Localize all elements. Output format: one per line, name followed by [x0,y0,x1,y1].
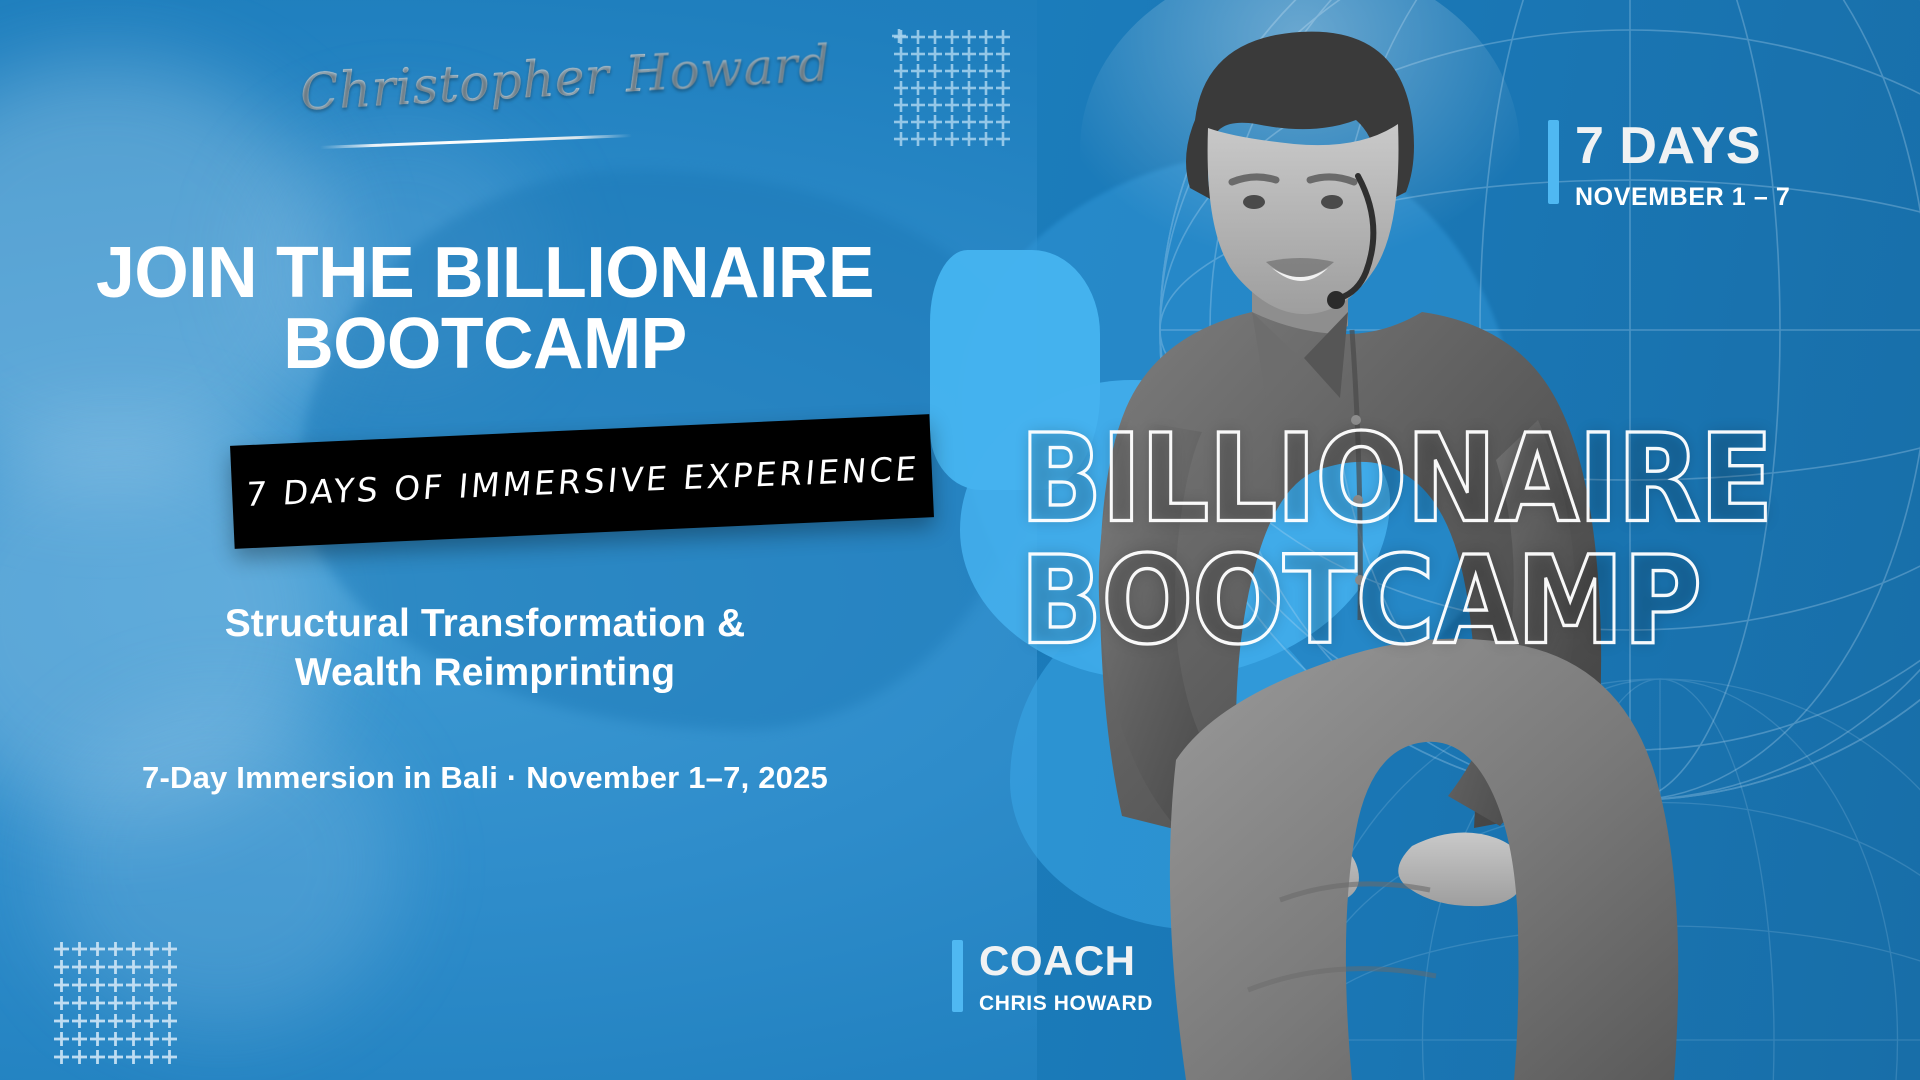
headline-line1: JOIN THE BILLIONAIRE [82,238,887,309]
logo-signature-text: Christopher Howard [299,44,652,121]
event-dateline: 7-Day Immersion in Bali · November 1–7, … [70,760,900,796]
subheadline-line2: Wealth Reimprinting [70,649,900,698]
logo-underline [320,134,632,149]
headline-line2: BOOTCAMP [82,309,887,380]
page-title: JOIN THE BILLIONAIRE BOOTCAMP [82,238,887,379]
coach-badge-subtitle: CHRIS HOWARD [979,993,1153,1014]
coach-badge-title: COACH [979,940,1153,982]
ribbon-label: 7 DAYS OF IMMERSIVE EXPERIENCE [244,449,921,514]
days-badge: 7 DAYS NOVEMBER 1 – 7 [1548,120,1790,204]
promo-banner: BILLIONAIRE BOOTCAMP Christopher Howard … [0,0,1920,1080]
subheadline: Structural Transformation & Wealth Reimp… [70,600,900,698]
days-badge-accent-bar [1548,120,1559,204]
coach-badge: COACH CHRIS HOWARD [952,940,1153,1012]
subheadline-line1: Structural Transformation & [70,600,900,649]
signature-logo[interactable]: Christopher Howard [300,36,650,156]
days-badge-subtitle: NOVEMBER 1 – 7 [1575,185,1790,210]
days-badge-title: 7 DAYS [1575,120,1790,172]
coach-badge-accent-bar [952,940,963,1012]
